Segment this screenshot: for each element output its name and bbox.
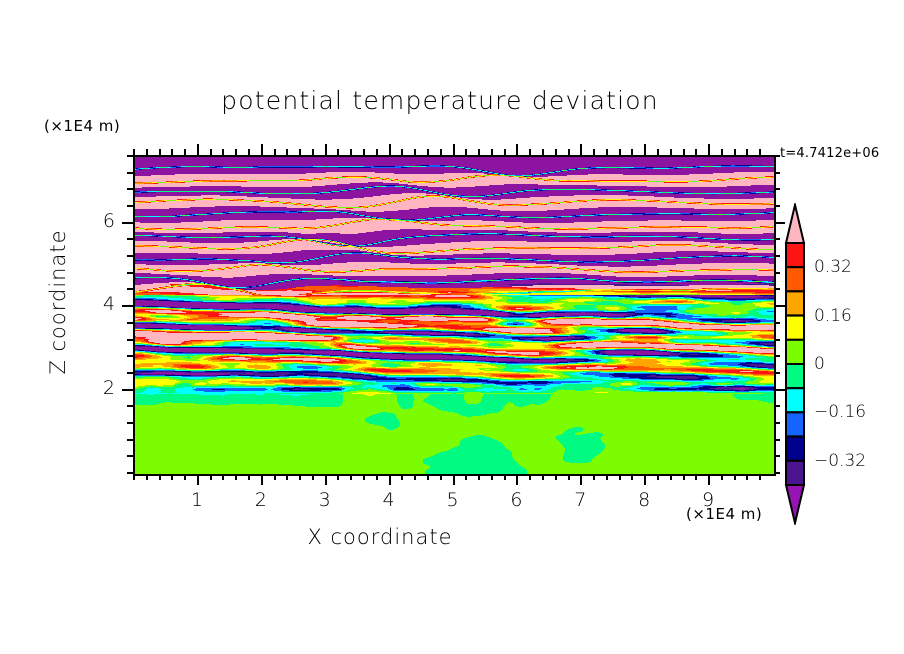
x-tick-major-top (325, 144, 327, 155)
y-tick-minor (127, 455, 133, 457)
x-tick-minor-top (529, 149, 531, 155)
y-tick-minor (127, 372, 133, 374)
x-tick-minor-top (376, 149, 378, 155)
x-tick-minor-top (337, 149, 339, 155)
x-tick-minor-top (721, 149, 723, 155)
y-tick-minor (127, 205, 133, 207)
x-tick-minor (504, 474, 506, 480)
x-tick-minor-top (606, 149, 608, 155)
x-tick-minor (734, 474, 736, 480)
x-tick-minor (683, 474, 685, 480)
x-tick-minor (286, 474, 288, 480)
x-tick-minor-top (746, 149, 748, 155)
x-tick-minor-top (695, 149, 697, 155)
x-tick-minor (555, 474, 557, 480)
x-tick-minor (491, 474, 493, 480)
y-axis-label: Z coordinate (46, 222, 70, 382)
x-tick-minor-top (465, 149, 467, 155)
y-tick-minor (127, 188, 133, 190)
x-tick-minor-top (222, 149, 224, 155)
x-tick-label: 4 (369, 489, 409, 511)
x-tick-major (708, 474, 710, 485)
x-tick-label: 1 (177, 489, 217, 511)
x-tick-minor (184, 474, 186, 480)
x-tick-minor-top (619, 149, 621, 155)
colorbar-tick-label: −0.32 (814, 451, 866, 471)
x-tick-minor (427, 474, 429, 480)
x-tick-minor-top (210, 149, 212, 155)
x-tick-major-top (389, 144, 391, 155)
x-tick-minor-top (146, 149, 148, 155)
colorbar-tick-label: −0.16 (814, 402, 866, 422)
x-tick-minor (248, 474, 250, 480)
x-tick-minor-top (299, 149, 301, 155)
x-tick-minor (631, 474, 633, 480)
y-tick-minor (127, 472, 133, 474)
colorbar (778, 203, 812, 525)
x-tick-minor-top (542, 149, 544, 155)
x-tick-label: 2 (241, 489, 281, 511)
y-tick-minor (127, 405, 133, 407)
y-tick-minor (127, 255, 133, 257)
x-tick-minor-top (235, 149, 237, 155)
chart-title-text: potential temperature deviation (221, 86, 659, 115)
x-tick-minor (440, 474, 442, 480)
x-tick-minor (299, 474, 301, 480)
x-tick-major-top (516, 144, 518, 155)
x-tick-minor (695, 474, 697, 480)
figure-canvas: potential temperature deviation (×1E4 m)… (0, 0, 904, 654)
x-tick-major (261, 474, 263, 485)
y-tick-minor-right (774, 155, 780, 157)
y-tick-minor (127, 339, 133, 341)
y-tick-minor (127, 155, 133, 157)
x-tick-minor-top (414, 149, 416, 155)
time-annotation: t=4.7412e+06 (780, 146, 879, 161)
x-tick-minor-top (568, 149, 570, 155)
x-tick-minor-top (555, 149, 557, 155)
y-tick-label: 4 (75, 293, 115, 315)
x-tick-minor-top (427, 149, 429, 155)
x-tick-major (644, 474, 646, 485)
x-tick-major (325, 474, 327, 485)
colorbar-tick-label: 0 (814, 354, 825, 374)
x-tick-minor-top (631, 149, 633, 155)
x-tick-minor (746, 474, 748, 480)
x-tick-major-top (453, 144, 455, 155)
x-tick-minor (376, 474, 378, 480)
x-tick-minor-top (184, 149, 186, 155)
x-tick-minor-top (593, 149, 595, 155)
y-axis-unit-label: (×1E4 m) (44, 117, 120, 135)
contour-field (135, 157, 774, 474)
x-tick-minor (337, 474, 339, 480)
x-tick-major-top (644, 144, 646, 155)
x-tick-major-top (708, 144, 710, 155)
x-tick-minor (171, 474, 173, 480)
x-tick-minor (312, 474, 314, 480)
y-tick-major (122, 305, 133, 307)
x-tick-major (453, 474, 455, 485)
x-tick-minor-top (734, 149, 736, 155)
x-tick-minor (478, 474, 480, 480)
x-tick-major (197, 474, 199, 485)
x-tick-minor-top (133, 149, 135, 155)
x-tick-minor (350, 474, 352, 480)
x-axis-unit-label: (×1E4 m) (686, 505, 762, 523)
x-tick-major-top (261, 144, 263, 155)
x-tick-minor-top (248, 149, 250, 155)
x-tick-minor (401, 474, 403, 480)
colorbar-tick-labels: 0.320.160−0.16−0.32 (814, 203, 902, 525)
x-tick-minor-top (657, 149, 659, 155)
x-tick-minor (759, 474, 761, 480)
x-tick-major (580, 474, 582, 485)
y-tick-minor-right (774, 172, 780, 174)
x-tick-minor-top (312, 149, 314, 155)
x-tick-label: 5 (433, 489, 473, 511)
x-tick-minor (568, 474, 570, 480)
x-tick-minor (414, 474, 416, 480)
x-tick-label: 8 (624, 489, 664, 511)
x-tick-major (389, 474, 391, 485)
x-tick-minor-top (504, 149, 506, 155)
y-tick-minor (127, 288, 133, 290)
x-tick-minor (146, 474, 148, 480)
x-tick-minor-top (350, 149, 352, 155)
x-tick-label: 3 (305, 489, 345, 511)
chart-title: potential temperature deviation (0, 86, 904, 115)
x-tick-minor-top (491, 149, 493, 155)
x-tick-minor (657, 474, 659, 480)
x-tick-minor (529, 474, 531, 480)
x-tick-minor-top (274, 149, 276, 155)
y-tick-major (122, 222, 133, 224)
x-tick-minor-top (171, 149, 173, 155)
y-tick-minor (127, 439, 133, 441)
x-tick-minor (721, 474, 723, 480)
y-tick-minor (127, 238, 133, 240)
x-tick-minor (363, 474, 365, 480)
contour-plot-area (133, 155, 776, 476)
x-tick-minor (593, 474, 595, 480)
x-tick-minor-top (363, 149, 365, 155)
y-tick-minor (127, 272, 133, 274)
x-tick-minor-top (478, 149, 480, 155)
x-tick-minor-top (670, 149, 672, 155)
y-tick-minor (127, 355, 133, 357)
y-tick-minor (127, 322, 133, 324)
x-tick-major-top (580, 144, 582, 155)
colorbar-tick-label: 0.16 (814, 306, 852, 326)
x-tick-minor-top (759, 149, 761, 155)
x-tick-minor (274, 474, 276, 480)
x-tick-minor (606, 474, 608, 480)
x-tick-minor (222, 474, 224, 480)
x-tick-minor (210, 474, 212, 480)
x-tick-minor (542, 474, 544, 480)
x-tick-minor-top (286, 149, 288, 155)
x-axis-label: X coordinate (0, 525, 760, 549)
y-tick-minor (127, 422, 133, 424)
y-tick-major (122, 389, 133, 391)
y-tick-label: 6 (75, 210, 115, 232)
x-tick-minor-top (440, 149, 442, 155)
x-tick-label: 6 (496, 489, 536, 511)
x-tick-major (516, 474, 518, 485)
x-tick-minor (465, 474, 467, 480)
x-tick-minor (619, 474, 621, 480)
y-tick-minor (127, 172, 133, 174)
y-tick-label: 2 (75, 377, 115, 399)
x-tick-label: 7 (560, 489, 600, 511)
x-tick-minor (670, 474, 672, 480)
x-tick-minor (159, 474, 161, 480)
x-tick-minor-top (683, 149, 685, 155)
colorbar-tick-label: 0.32 (814, 257, 852, 277)
x-tick-minor-top (159, 149, 161, 155)
y-tick-minor-right (774, 188, 780, 190)
x-tick-minor (133, 474, 135, 480)
x-tick-minor-top (401, 149, 403, 155)
x-tick-major-top (197, 144, 199, 155)
x-tick-minor (235, 474, 237, 480)
